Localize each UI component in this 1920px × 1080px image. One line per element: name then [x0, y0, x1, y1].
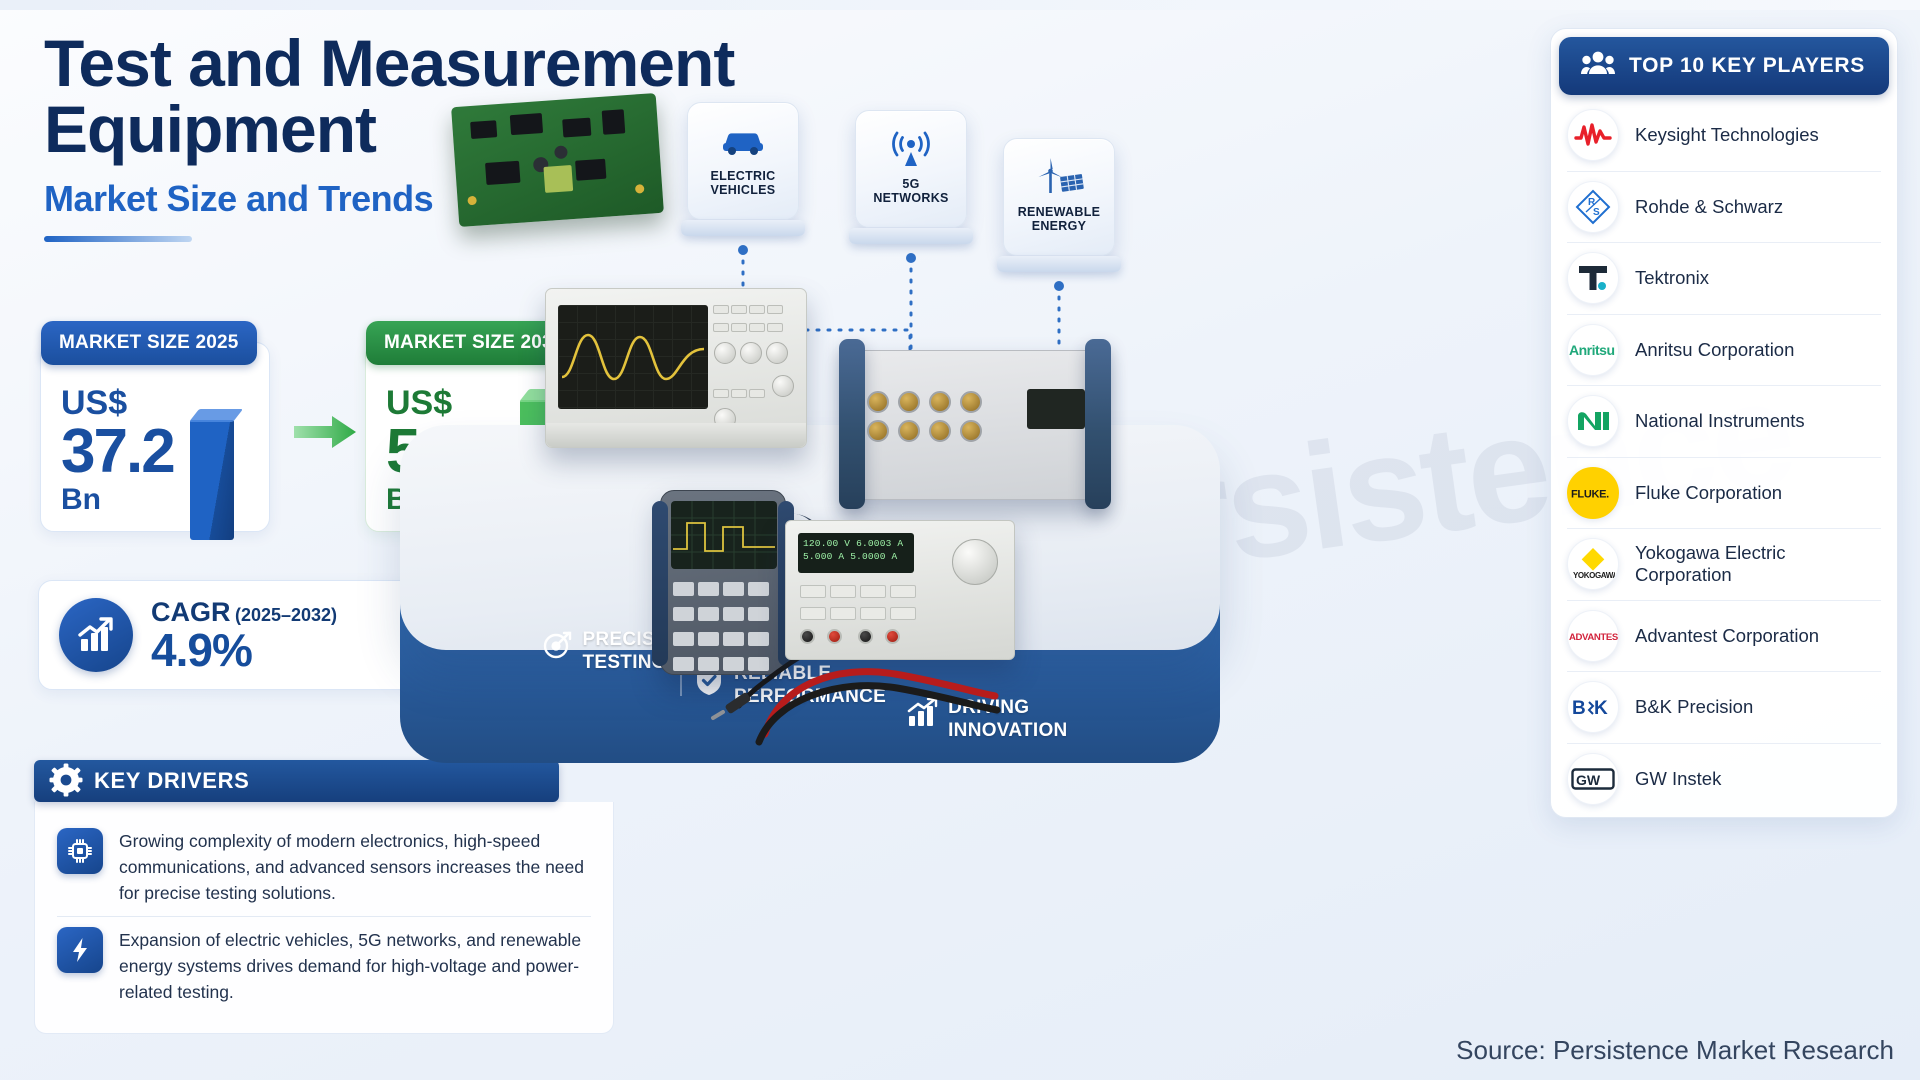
player-row-anritsu[interactable]: Anritsu Anritsu Corporation [1567, 314, 1881, 386]
svg-text:B: B [1572, 698, 1586, 719]
vector-analyzer [850, 350, 1100, 500]
rohde-schwarz-logo-icon: R S [1567, 181, 1619, 233]
page-title-line1: Test and Measurement [44, 30, 924, 96]
market-size-2025-card: MARKET SIZE 2025 US$ 37.2 Bn [40, 342, 270, 532]
players-panel-title: TOP 10 KEY PLAYERS [1629, 54, 1865, 78]
bar-2025 [190, 420, 234, 540]
anritsu-logo-icon: Anritsu [1567, 324, 1619, 376]
market-size-2025-body: US$ 37.2 Bn [41, 343, 269, 517]
scene-tag-label: ELECTRICVEHICLES [711, 169, 776, 197]
player-row-fluke[interactable]: FLUKE. Fluke Corporation [1567, 457, 1881, 529]
gear-icon [44, 754, 88, 806]
people-group-icon [1581, 50, 1615, 82]
cagr-period: (2025–2032) [235, 605, 337, 625]
analyzer-rail-left [839, 339, 865, 509]
analyzer-ports [867, 391, 984, 442]
equipment-scene: Persistence [455, 100, 1235, 960]
player-name: National Instruments [1635, 410, 1805, 432]
svg-text:Anritsu: Anritsu [1569, 342, 1615, 358]
svg-text:K: K [1594, 698, 1608, 719]
infographic-canvas: Test and Measurement Equipment Market Si… [0, 0, 1920, 1080]
oscilloscope-controls [712, 303, 798, 413]
player-name: Anritsu Corporation [1635, 339, 1794, 361]
tektronix-logo-icon [1567, 252, 1619, 304]
player-name: Advantest Corporation [1635, 625, 1819, 647]
yokogawa-logo-icon: YOKOGAWA [1567, 538, 1619, 590]
players-list: Keysight Technologies R S Rohde & Schwar… [1551, 95, 1897, 822]
test-leads [745, 630, 1025, 770]
oscilloscope-screen [558, 305, 708, 409]
player-row-yokogawa[interactable]: YOKOGAWA Yokogawa Electric Corporation [1567, 528, 1881, 600]
lightning-bolt-icon [57, 927, 103, 973]
cagr-label: CAGR [151, 597, 231, 627]
cagr-value: 4.9% [151, 626, 337, 674]
market-value-2025: 37.2 [61, 421, 269, 483]
circuit-board [451, 93, 664, 227]
bk-precision-logo-icon: B K [1567, 681, 1619, 733]
player-row-keysight[interactable]: Keysight Technologies [1567, 99, 1881, 171]
svg-text:FLUKE.: FLUKE. [1571, 488, 1609, 500]
player-row-bk-precision[interactable]: B K B&K Precision [1567, 671, 1881, 743]
signal-tower-icon [890, 127, 932, 171]
scene-tag-label: 5GNETWORKS [873, 177, 948, 205]
player-name: Rohde & Schwarz [1635, 196, 1783, 218]
svg-text:S: S [1593, 207, 1600, 218]
ni-logo-icon [1567, 395, 1619, 447]
player-name: Tektronix [1635, 267, 1709, 289]
scene-tag-5g-networks: 5GNETWORKS [855, 110, 967, 244]
key-drivers-heading-label: KEY DRIVERS [94, 768, 249, 794]
svg-text:YOKOGAWA: YOKOGAWA [1573, 571, 1615, 580]
player-name: Fluke Corporation [1635, 482, 1782, 504]
svg-text:GW: GW [1576, 772, 1601, 788]
growth-arrow-icon [292, 410, 358, 454]
oscilloscope-base [546, 423, 806, 447]
svg-text:ADVANTEST: ADVANTEST [1569, 632, 1618, 643]
advantest-logo-icon: ADVANTEST [1567, 610, 1619, 662]
source-label: Source: Persistence Market Research [1456, 1035, 1894, 1066]
scene-tag-renewable-energy: RENEWABLEENERGY [1003, 138, 1115, 272]
gw-instek-logo-icon: GW [1567, 753, 1619, 805]
keysight-logo-icon [1567, 109, 1619, 161]
power-supply-knob[interactable] [952, 539, 998, 585]
power-supply-buttons[interactable] [798, 583, 928, 627]
market-size-2025-tab: MARKET SIZE 2025 [41, 321, 257, 365]
scene-tag-label: RENEWABLEENERGY [1018, 205, 1101, 233]
top-strip [0, 0, 1920, 10]
psu-readout-line: 120.00 V 6.0003 A [803, 537, 909, 550]
handheld-screen [671, 501, 777, 569]
handheld-grip-left [652, 501, 668, 666]
oscilloscope [545, 288, 807, 448]
target-icon [542, 630, 572, 665]
player-name: GW Instek [1635, 768, 1721, 790]
microchip-icon [57, 828, 103, 874]
growth-chart-icon [59, 598, 133, 672]
analyzer-screen [1027, 389, 1085, 429]
cagr-text-block: CAGR (2025–2032) 4.9% [151, 597, 337, 674]
player-row-advantest[interactable]: ADVANTEST Advantest Corporation [1567, 600, 1881, 672]
psu-readout-line: 5.000 A 5.0000 A [803, 550, 909, 563]
wind-solar-icon [1033, 155, 1085, 199]
top-key-players-panel: TOP 10 KEY PLAYERS Keysight Technologies… [1550, 28, 1898, 818]
player-name: Yokogawa Electric Corporation [1635, 542, 1881, 586]
player-name: Keysight Technologies [1635, 124, 1819, 146]
unit-label-2025: Bn [61, 483, 269, 517]
car-icon [720, 119, 766, 163]
player-row-gw-instek[interactable]: GW GW Instek [1567, 743, 1881, 815]
fluke-logo-icon: FLUKE. [1567, 467, 1619, 519]
cagr-card: CAGR (2025–2032) 4.9% [38, 580, 418, 690]
cagr-label-row: CAGR (2025–2032) [151, 597, 337, 628]
player-row-national-instruments[interactable]: National Instruments [1567, 385, 1881, 457]
player-row-rohde-schwarz[interactable]: R S Rohde & Schwarz [1567, 171, 1881, 243]
player-name: B&K Precision [1635, 696, 1753, 718]
title-divider [44, 236, 192, 242]
scene-tag-electric-vehicles: ELECTRICVEHICLES [687, 102, 799, 236]
players-panel-heading: TOP 10 KEY PLAYERS [1559, 37, 1889, 95]
power-supply-display: 120.00 V 6.0003 A 5.000 A 5.0000 A [798, 533, 914, 573]
player-row-tektronix[interactable]: Tektronix [1567, 242, 1881, 314]
analyzer-rail-right [1085, 339, 1111, 509]
